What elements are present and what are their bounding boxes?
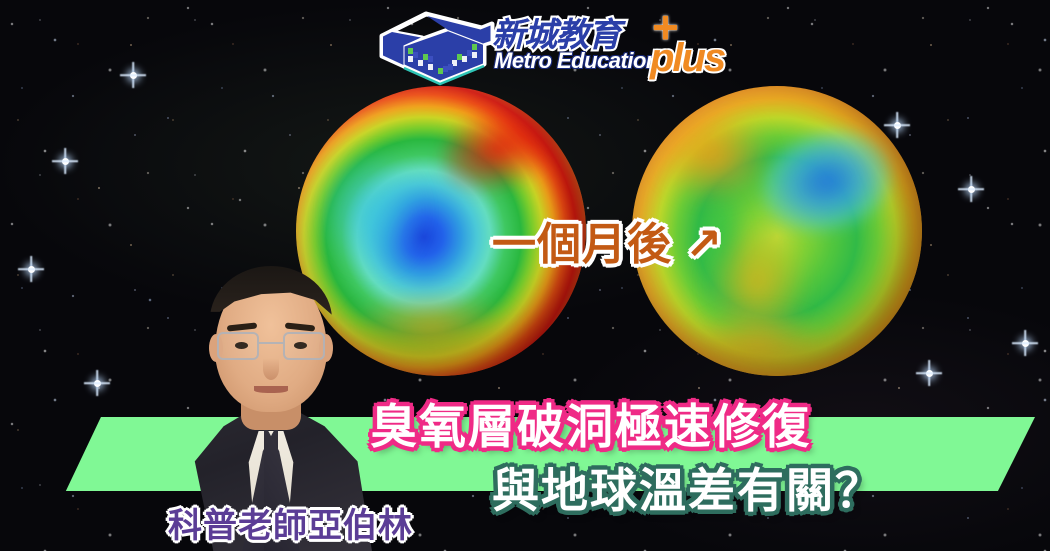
lens-left — [217, 332, 259, 360]
logo-wordmark: 新城教育 新城教育 + Metro Education plus — [492, 6, 702, 88]
channel-logo[interactable]: 新城教育 新城教育 + Metro Education plus — [374, 4, 694, 88]
one-month-later-callout: 一個月後 ↗ — [492, 208, 723, 272]
logo-plus-word: plus — [650, 36, 724, 81]
lens-right — [283, 332, 325, 360]
glasses-bridge — [259, 342, 283, 344]
headline-line-1: 臭氧層破洞極速修復 — [370, 388, 811, 457]
thumbnail-canvas: 新城教育 新城教育 + Metro Education plus — [0, 0, 1050, 551]
mouth — [254, 386, 288, 393]
logo-name-en: Metro Education — [494, 48, 659, 74]
graduation-cap-building-logo-icon — [374, 8, 498, 86]
presenter-name-label: 科普老師亞伯林 — [168, 498, 413, 547]
headline-line-2: 與地球溫差有關？ — [492, 452, 884, 521]
nose — [263, 358, 279, 380]
